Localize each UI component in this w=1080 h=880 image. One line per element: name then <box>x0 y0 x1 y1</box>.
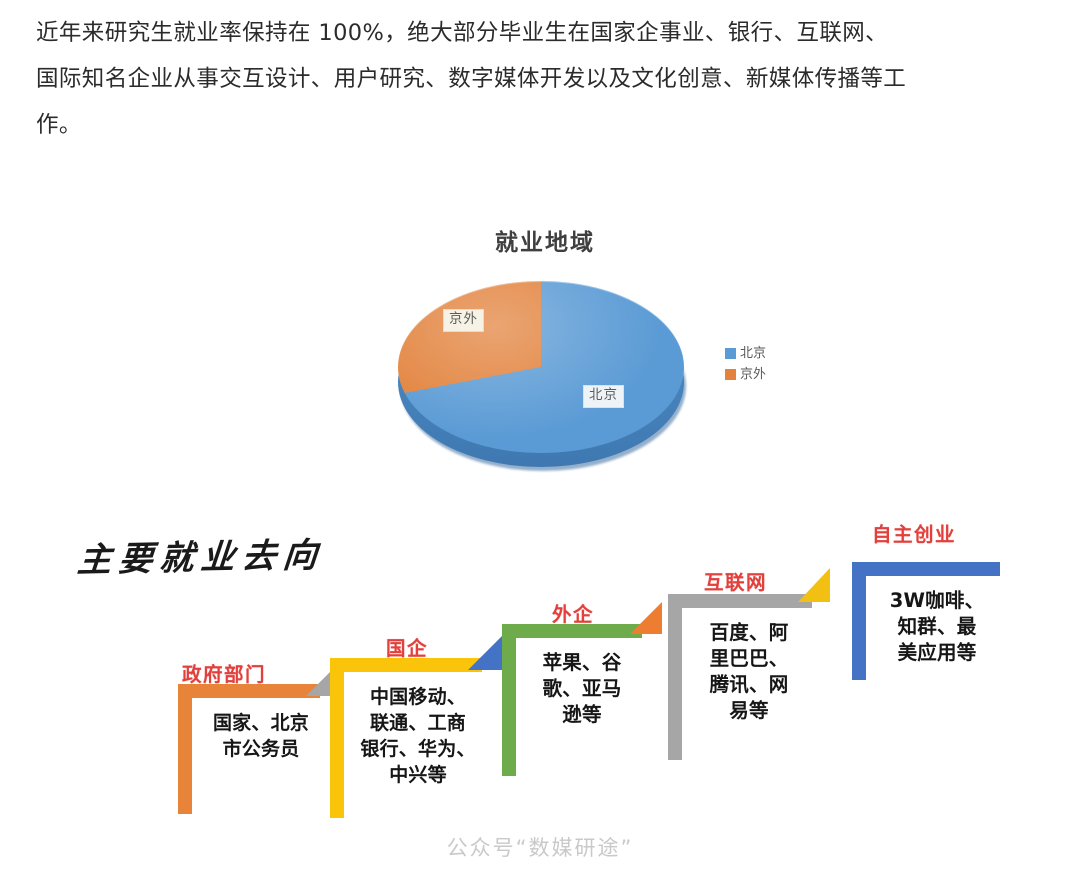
employment-region-chart: 就业地域 京外 北京 北京 京外 <box>300 205 920 475</box>
slide-page: 近年来研究生就业率保持在 100%，绝大部分毕业生在国家企事业、银行、互联网、 … <box>0 0 1080 880</box>
step-triangle-3 <box>630 602 662 634</box>
intro-line-1: 近年来研究生就业率保持在 100%，绝大部分毕业生在国家企事业、银行、互联网、 <box>36 10 1048 56</box>
step-bracket-top-3 <box>502 624 642 638</box>
step-label-2: 国企 <box>386 632 428 661</box>
step-bracket-top-1 <box>178 684 320 698</box>
step-body-line: 银行、华为、 <box>348 736 488 762</box>
step-bracket-top-2 <box>330 658 482 672</box>
intro-line-3: 作。 <box>36 102 1048 148</box>
stairs-title: 主要就业去向 <box>76 527 327 581</box>
step-body-5: 3W咖啡、知群、最美应用等 <box>868 588 1006 666</box>
step-bracket-left-2 <box>330 658 344 818</box>
step-label-4: 互联网 <box>704 566 767 595</box>
step-triangle-4 <box>798 568 830 602</box>
step-body-line: 腾讯、网 <box>686 672 812 698</box>
step-body-line: 美应用等 <box>868 640 1006 666</box>
step-bracket-top-5 <box>852 562 1000 576</box>
legend-label-beijing: 北京 <box>740 343 766 364</box>
step-body-line: 联通、工商 <box>348 710 488 736</box>
footer-watermark: 公众号“数媒研途” <box>0 832 1080 862</box>
step-label-5: 自主创业 <box>872 518 956 547</box>
step-bracket-left-4 <box>668 594 682 760</box>
legend-item-jingwai[interactable]: 京外 <box>725 364 766 385</box>
step-label-3: 外企 <box>552 598 594 627</box>
step-body-4: 百度、阿里巴巴、腾讯、网易等 <box>686 620 812 724</box>
pie-label-beijing: 北京 <box>583 385 624 408</box>
step-bracket-top-4 <box>668 594 812 608</box>
step-body-line: 中国移动、 <box>348 684 488 710</box>
step-body-3: 苹果、谷歌、亚马逊等 <box>518 650 646 728</box>
step-body-line: 市公务员 <box>196 736 326 762</box>
chart-legend: 北京 京外 <box>725 343 766 385</box>
step-body-line: 易等 <box>686 698 812 724</box>
legend-swatch-beijing <box>725 348 736 359</box>
pie-graphic: 京外 北京 <box>395 267 695 472</box>
step-body-line: 中兴等 <box>348 762 488 788</box>
step-bracket-left-3 <box>502 624 516 776</box>
step-body-line: 国家、北京 <box>196 710 326 736</box>
intro-line-2: 国际知名企业从事交互设计、用户研究、数字媒体开发以及文化创意、新媒体传播等工 <box>36 56 1048 102</box>
legend-swatch-jingwai <box>725 369 736 380</box>
step-bracket-left-1 <box>178 684 192 814</box>
step-body-1: 国家、北京市公务员 <box>196 710 326 762</box>
step-body-line: 里巴巴、 <box>686 646 812 672</box>
step-body-line: 苹果、谷 <box>518 650 646 676</box>
intro-paragraph: 近年来研究生就业率保持在 100%，绝大部分毕业生在国家企事业、银行、互联网、 … <box>36 10 1048 148</box>
step-label-1: 政府部门 <box>182 658 266 687</box>
step-body-line: 3W咖啡、 <box>868 588 1006 614</box>
step-bracket-left-5 <box>852 562 866 680</box>
step-body-line: 百度、阿 <box>686 620 812 646</box>
pie-top-face[interactable] <box>398 281 684 453</box>
legend-label-jingwai: 京外 <box>740 364 766 385</box>
chart-title: 就业地域 <box>300 223 790 257</box>
legend-item-beijing[interactable]: 北京 <box>725 343 766 364</box>
step-body-line: 歌、亚马 <box>518 676 646 702</box>
pie-label-jingwai: 京外 <box>443 309 484 332</box>
step-body-2: 中国移动、联通、工商银行、华为、中兴等 <box>348 684 488 788</box>
step-body-line: 知群、最 <box>868 614 1006 640</box>
step-triangle-2 <box>468 636 502 670</box>
employment-destination-stairs: 主要就业去向 政府部门国家、北京市公务员国企中国移动、联通、工商银行、华为、中兴… <box>0 498 1080 838</box>
step-body-line: 逊等 <box>518 702 646 728</box>
